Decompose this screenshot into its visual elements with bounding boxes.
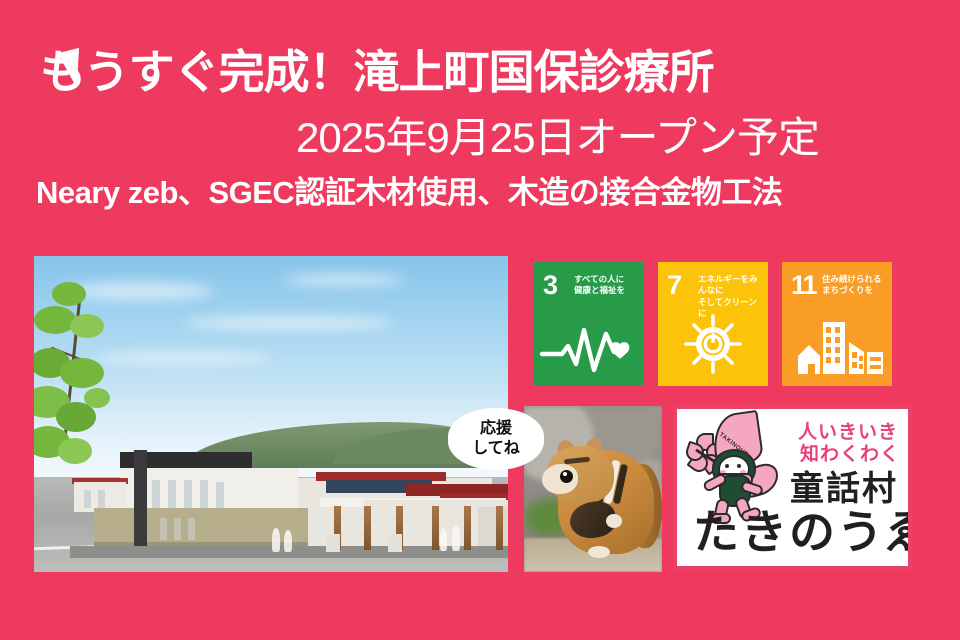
speech-bubble: 応援 してね bbox=[448, 408, 544, 470]
mascot-eye bbox=[725, 464, 729, 468]
cloud-shape bbox=[284, 274, 404, 286]
page-title: もうすぐ完成！滝上町国保診療所 bbox=[40, 44, 714, 102]
wooden-column bbox=[464, 506, 471, 550]
sdg-badge-label: 住み続けられる まちづくりを bbox=[822, 274, 887, 297]
wooden-column bbox=[496, 506, 503, 550]
person-figure bbox=[440, 528, 447, 551]
window-pane bbox=[216, 482, 224, 508]
window-pane bbox=[84, 490, 91, 508]
mascot-eye bbox=[737, 464, 741, 468]
opening-date-line: 2025年9月25日オープン予定 bbox=[296, 112, 819, 165]
person-figure bbox=[452, 526, 460, 551]
sun-power-icon bbox=[658, 312, 768, 376]
logo-title-main: たきのうゑ bbox=[693, 496, 912, 562]
window-pane bbox=[160, 518, 167, 540]
leaf-cluster bbox=[70, 314, 104, 338]
leaf-cluster bbox=[52, 282, 86, 306]
sdg-badge-7[interactable]: 7 エネルギーをみんなに そしてクリーンに bbox=[658, 262, 768, 386]
sdg-badge-number: 11 bbox=[791, 272, 816, 299]
window-pane bbox=[188, 518, 195, 540]
sdg-badge-number: 3 bbox=[543, 272, 558, 299]
chipmunk-paw bbox=[606, 514, 622, 528]
construction-features-line: Neary zeb、SGEC認証木材使用、木造の接合金物工法 bbox=[36, 174, 782, 213]
window-pane bbox=[168, 480, 176, 508]
sdg-badge-row: 3 すべての人に 健康と福祉を 7 エネルギーをみんなに そしてクリーンに bbox=[534, 262, 892, 386]
wooden-column bbox=[364, 506, 371, 550]
person-figure bbox=[284, 530, 292, 552]
leaf-cluster bbox=[84, 388, 110, 408]
chipmunk-with-seed bbox=[524, 406, 662, 572]
leaf-cluster bbox=[58, 438, 92, 464]
window-pane bbox=[98, 490, 105, 508]
tree-foliage bbox=[34, 262, 150, 470]
entrance-pier bbox=[326, 534, 340, 552]
window-pane bbox=[200, 480, 208, 508]
chipmunk-foot bbox=[588, 546, 610, 558]
leaf-cluster bbox=[34, 306, 76, 334]
entrance-pier bbox=[388, 534, 402, 552]
sdg-badge-number: 7 bbox=[667, 272, 682, 299]
cloud-shape bbox=[184, 316, 394, 330]
sdg-badge-label: すべての人に 健康と福祉を bbox=[574, 274, 639, 297]
clinic-exterior-rendering bbox=[34, 256, 508, 572]
poster-canvas: もうすぐ完成！滝上町国保診療所 2025年9月25日オープン予定 Neary z… bbox=[0, 0, 960, 640]
speech-bubble-text: 応援 してね bbox=[472, 419, 520, 459]
wooden-column bbox=[432, 506, 439, 550]
leaf-cluster bbox=[60, 358, 104, 388]
window-pane bbox=[152, 480, 160, 508]
sdg-badge-3[interactable]: 3 すべての人に 健康と福祉を bbox=[534, 262, 644, 386]
window-pane bbox=[174, 518, 181, 540]
sdg-badge-11[interactable]: 11 住み続けられる まちづくりを bbox=[782, 262, 892, 386]
city-buildings-icon bbox=[782, 312, 892, 376]
window-pane bbox=[184, 480, 192, 508]
heartbeat-icon bbox=[534, 312, 644, 376]
chipmunk-eye bbox=[560, 470, 573, 483]
person-figure bbox=[272, 528, 280, 552]
village-logo-panel[interactable]: TAKINOUE 人いきいき 知わくわく 童話村 たきのうゑ bbox=[673, 405, 912, 570]
